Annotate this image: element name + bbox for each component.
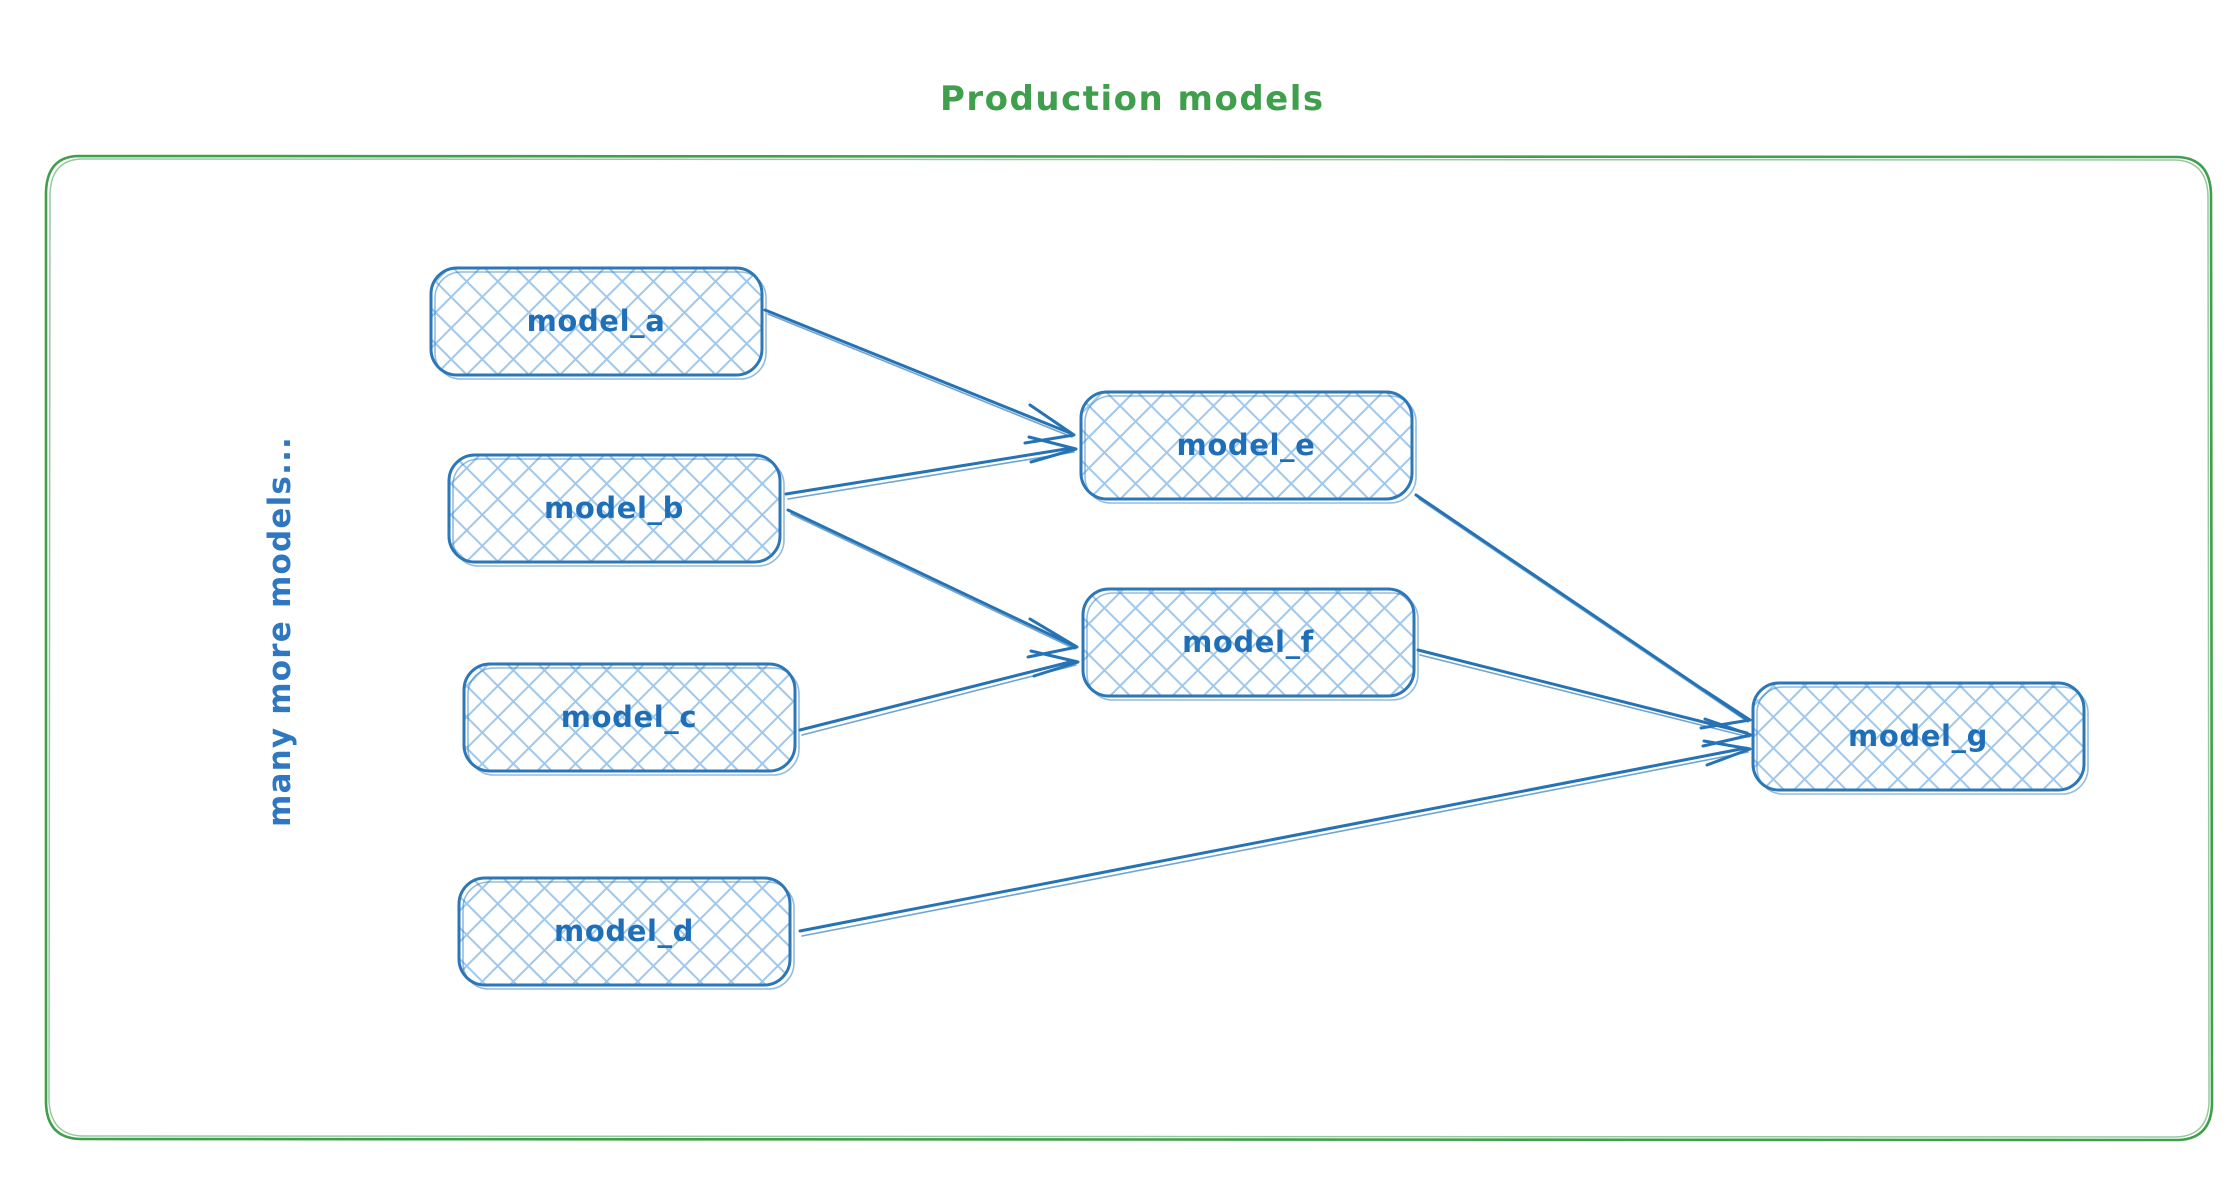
node-model_c[interactable]: model_c [464,664,799,775]
edge-model_b-to-model_f [788,510,1077,657]
diagram-canvas: Production models many more models... [0,0,2240,1188]
node-model_d[interactable]: model_d [459,878,794,989]
edge-model_c-to-model_f [800,651,1078,735]
node-label-model_f: model_f [1182,625,1314,659]
edge-model_a-to-model_e [765,310,1074,443]
node-model_b[interactable]: model_b [449,455,784,566]
many-more-models-note: many more models... [262,436,298,827]
page-title: Production models [940,79,1325,119]
node-label-model_c: model_c [561,700,697,734]
node-model_f[interactable]: model_f [1083,589,1418,700]
node-label-model_g: model_g [1848,719,1988,753]
side-note-label: many more models... [262,436,298,827]
edge-model_b-to-model_e [786,437,1076,499]
node-label-model_b: model_b [544,491,684,525]
diagram-svg: Production models many more models... [0,0,2240,1188]
edge-model_f-to-model_g [1418,650,1751,746]
node-label-model_d: model_d [554,914,694,948]
node-model_g[interactable]: model_g [1753,683,2088,794]
node-label-model_a: model_a [527,304,666,338]
node-label-model_e: model_e [1177,428,1316,462]
node-model_e[interactable]: model_e [1081,392,1416,503]
edge-model_d-to-model_g [800,741,1750,936]
node-model_a[interactable]: model_a [431,268,766,379]
